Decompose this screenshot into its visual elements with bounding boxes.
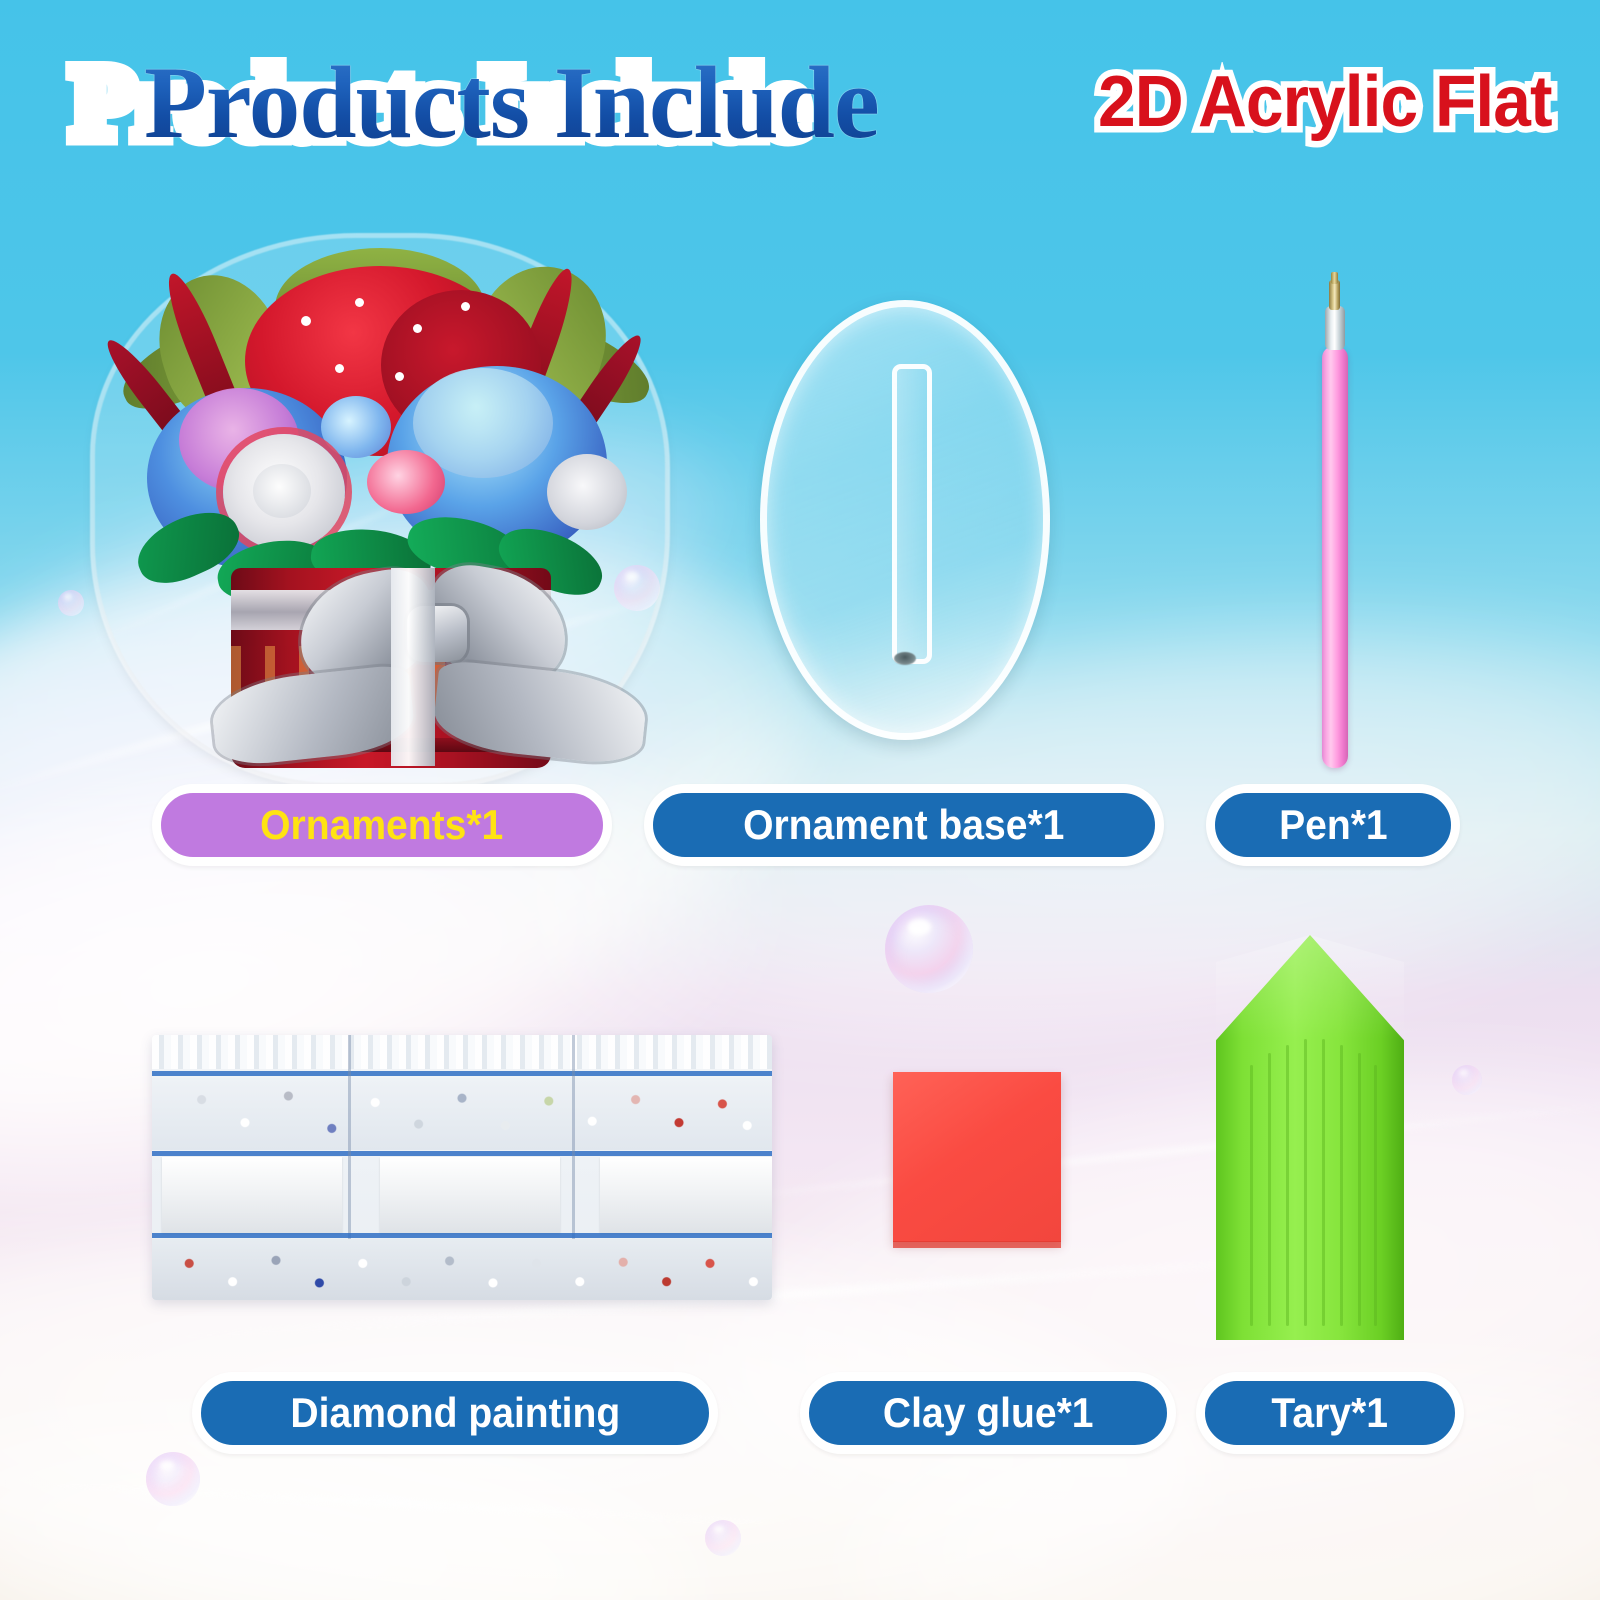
bead-dot (461, 302, 470, 311)
bag-seal-line (152, 1151, 772, 1156)
silver-bow-center-strap (391, 568, 435, 766)
pen-tip (1329, 280, 1340, 310)
product-image-pen (1318, 268, 1352, 768)
bead-field (152, 1078, 772, 1150)
bubble-decoration (146, 1452, 200, 1506)
label-ornament-base-text: Ornament base*1 (743, 804, 1064, 846)
tray-rim-highlight (1216, 935, 1404, 1039)
page-title: Products Include Products Include 2D Acr… (0, 52, 1600, 172)
label-pen[interactable]: Pen*1 (1206, 784, 1460, 866)
pen-collar (1325, 306, 1345, 350)
product-image-clay-glue (893, 1072, 1061, 1242)
tray-groove (1250, 1065, 1253, 1326)
tray-groove (1286, 1045, 1289, 1326)
bead-dot (301, 316, 311, 326)
product-image-tray (1216, 935, 1404, 1340)
white-rose-center (253, 464, 311, 518)
label-clay-glue-text: Clay glue*1 (883, 1392, 1094, 1434)
pen-barrel (1322, 346, 1348, 768)
bubble-decoration (1452, 1065, 1482, 1095)
label-ornament-base[interactable]: Ornament base*1 (644, 784, 1164, 866)
bead-field (152, 1239, 772, 1300)
bead-dot (395, 372, 404, 381)
label-tary[interactable]: Tary*1 (1196, 1372, 1464, 1454)
clay-glue-edge (893, 1241, 1061, 1248)
accent-petal (321, 396, 391, 458)
base-slot (892, 364, 932, 664)
page-subtitle-text: 2D Acrylic Flat (1098, 66, 1552, 138)
bead-dot (413, 324, 422, 333)
pen-nib (1331, 272, 1338, 284)
product-image-ornaments (95, 238, 665, 783)
accent-petal (367, 450, 445, 514)
label-ornaments[interactable]: Ornaments*1 (152, 784, 612, 866)
label-tary-text: Tary*1 (1272, 1392, 1389, 1434)
bag-label (380, 1157, 560, 1233)
base-hole (894, 652, 916, 665)
bubble-decoration (58, 590, 84, 616)
bead-dot (335, 364, 344, 373)
label-ornaments-text: Ornaments*1 (260, 804, 503, 846)
tray-groove (1268, 1053, 1271, 1326)
bubble-decoration (705, 1520, 741, 1556)
bag-seal (152, 1035, 772, 1069)
bag-seal-line (152, 1233, 772, 1238)
bead-bag-stack (152, 1035, 772, 1300)
bag-label (162, 1157, 342, 1233)
bead-dot (355, 298, 364, 307)
tray-groove (1340, 1045, 1343, 1326)
tray-groove (1374, 1065, 1377, 1326)
label-pen-text: Pen*1 (1279, 804, 1388, 846)
bag-seal-line (152, 1071, 772, 1076)
bubble-decoration (885, 905, 973, 993)
bag-label (600, 1157, 772, 1233)
label-diamond-painting-text: Diamond painting (290, 1392, 620, 1434)
label-clay-glue[interactable]: Clay glue*1 (800, 1372, 1176, 1454)
tray-groove (1322, 1039, 1325, 1326)
tray-groove (1304, 1039, 1307, 1326)
product-image-ornament-base (760, 300, 1050, 740)
page-title-text: Products Include (144, 52, 879, 155)
label-diamond-painting[interactable]: Diamond painting (192, 1372, 718, 1454)
product-include-infographic: Products Include Products Include 2D Acr… (0, 0, 1600, 1600)
white-rose-small (547, 454, 627, 530)
tray-groove (1358, 1053, 1361, 1326)
product-image-diamond-painting (152, 1035, 772, 1300)
